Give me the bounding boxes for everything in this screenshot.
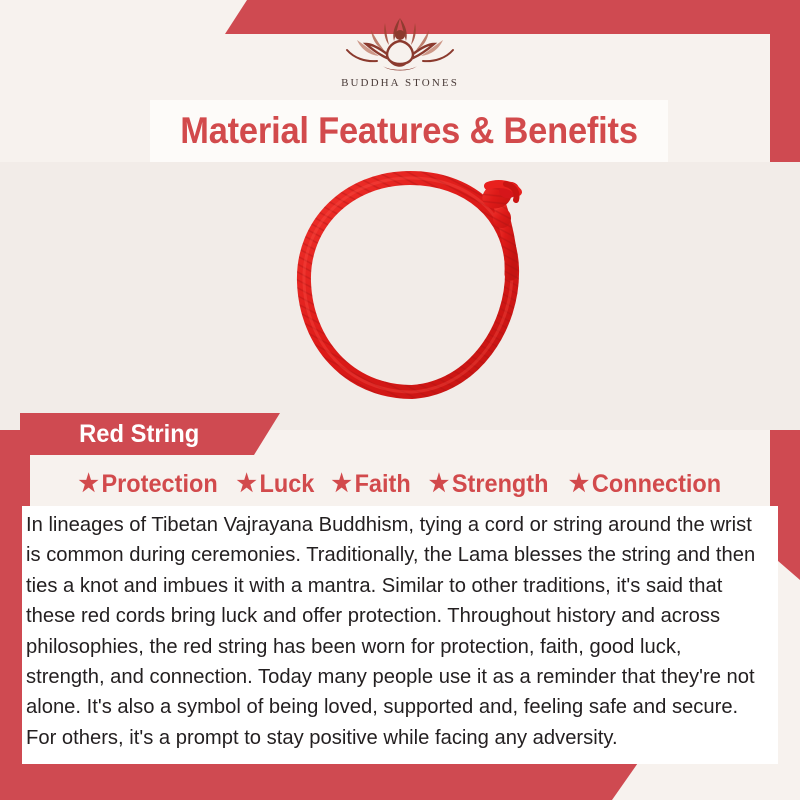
star-icon: ★ [236,472,256,496]
star-icon: ★ [331,472,351,496]
product-image-stage [0,162,800,430]
ribbon-label: Red String [79,420,199,449]
product-name-ribbon: Red String [20,413,280,455]
ribbon-shape: Red String [20,413,280,455]
title-band: Material Features & Benefits [150,100,668,162]
benefit-item-strength: ★ Strength [424,470,553,499]
benefit-label: Strength [452,470,549,499]
benefit-item-protection: ★ Protection [73,470,222,499]
decorative-bottom-bar [0,760,640,800]
benefit-item-connection: ★ Connection [564,470,726,499]
benefit-label: Faith [354,470,410,499]
description-panel: In lineages of Tibetan Vajrayana Buddhis… [22,506,778,764]
description-paragraph: In lineages of Tibetan Vajrayana Buddhis… [26,510,765,753]
brand-header: BUDDHA STONES [0,0,800,100]
page-title: Material Features & Benefits [180,110,638,152]
benefit-label: Luck [259,470,314,499]
red-string-bracelet-image [262,162,562,430]
lotus-meditation-icon [341,14,459,76]
brand-wordmark: BUDDHA STONES [341,77,459,89]
benefit-item-luck: ★ Luck [232,470,319,499]
benefit-item-faith: ★ Faith [327,470,416,499]
benefits-list: ★ Protection ★ Luck ★ Faith ★ Strength ★… [0,462,800,506]
star-icon: ★ [429,472,449,496]
star-icon: ★ [569,472,589,496]
benefit-label: Protection [101,470,217,499]
star-icon: ★ [78,472,98,496]
benefit-label: Connection [592,470,721,499]
